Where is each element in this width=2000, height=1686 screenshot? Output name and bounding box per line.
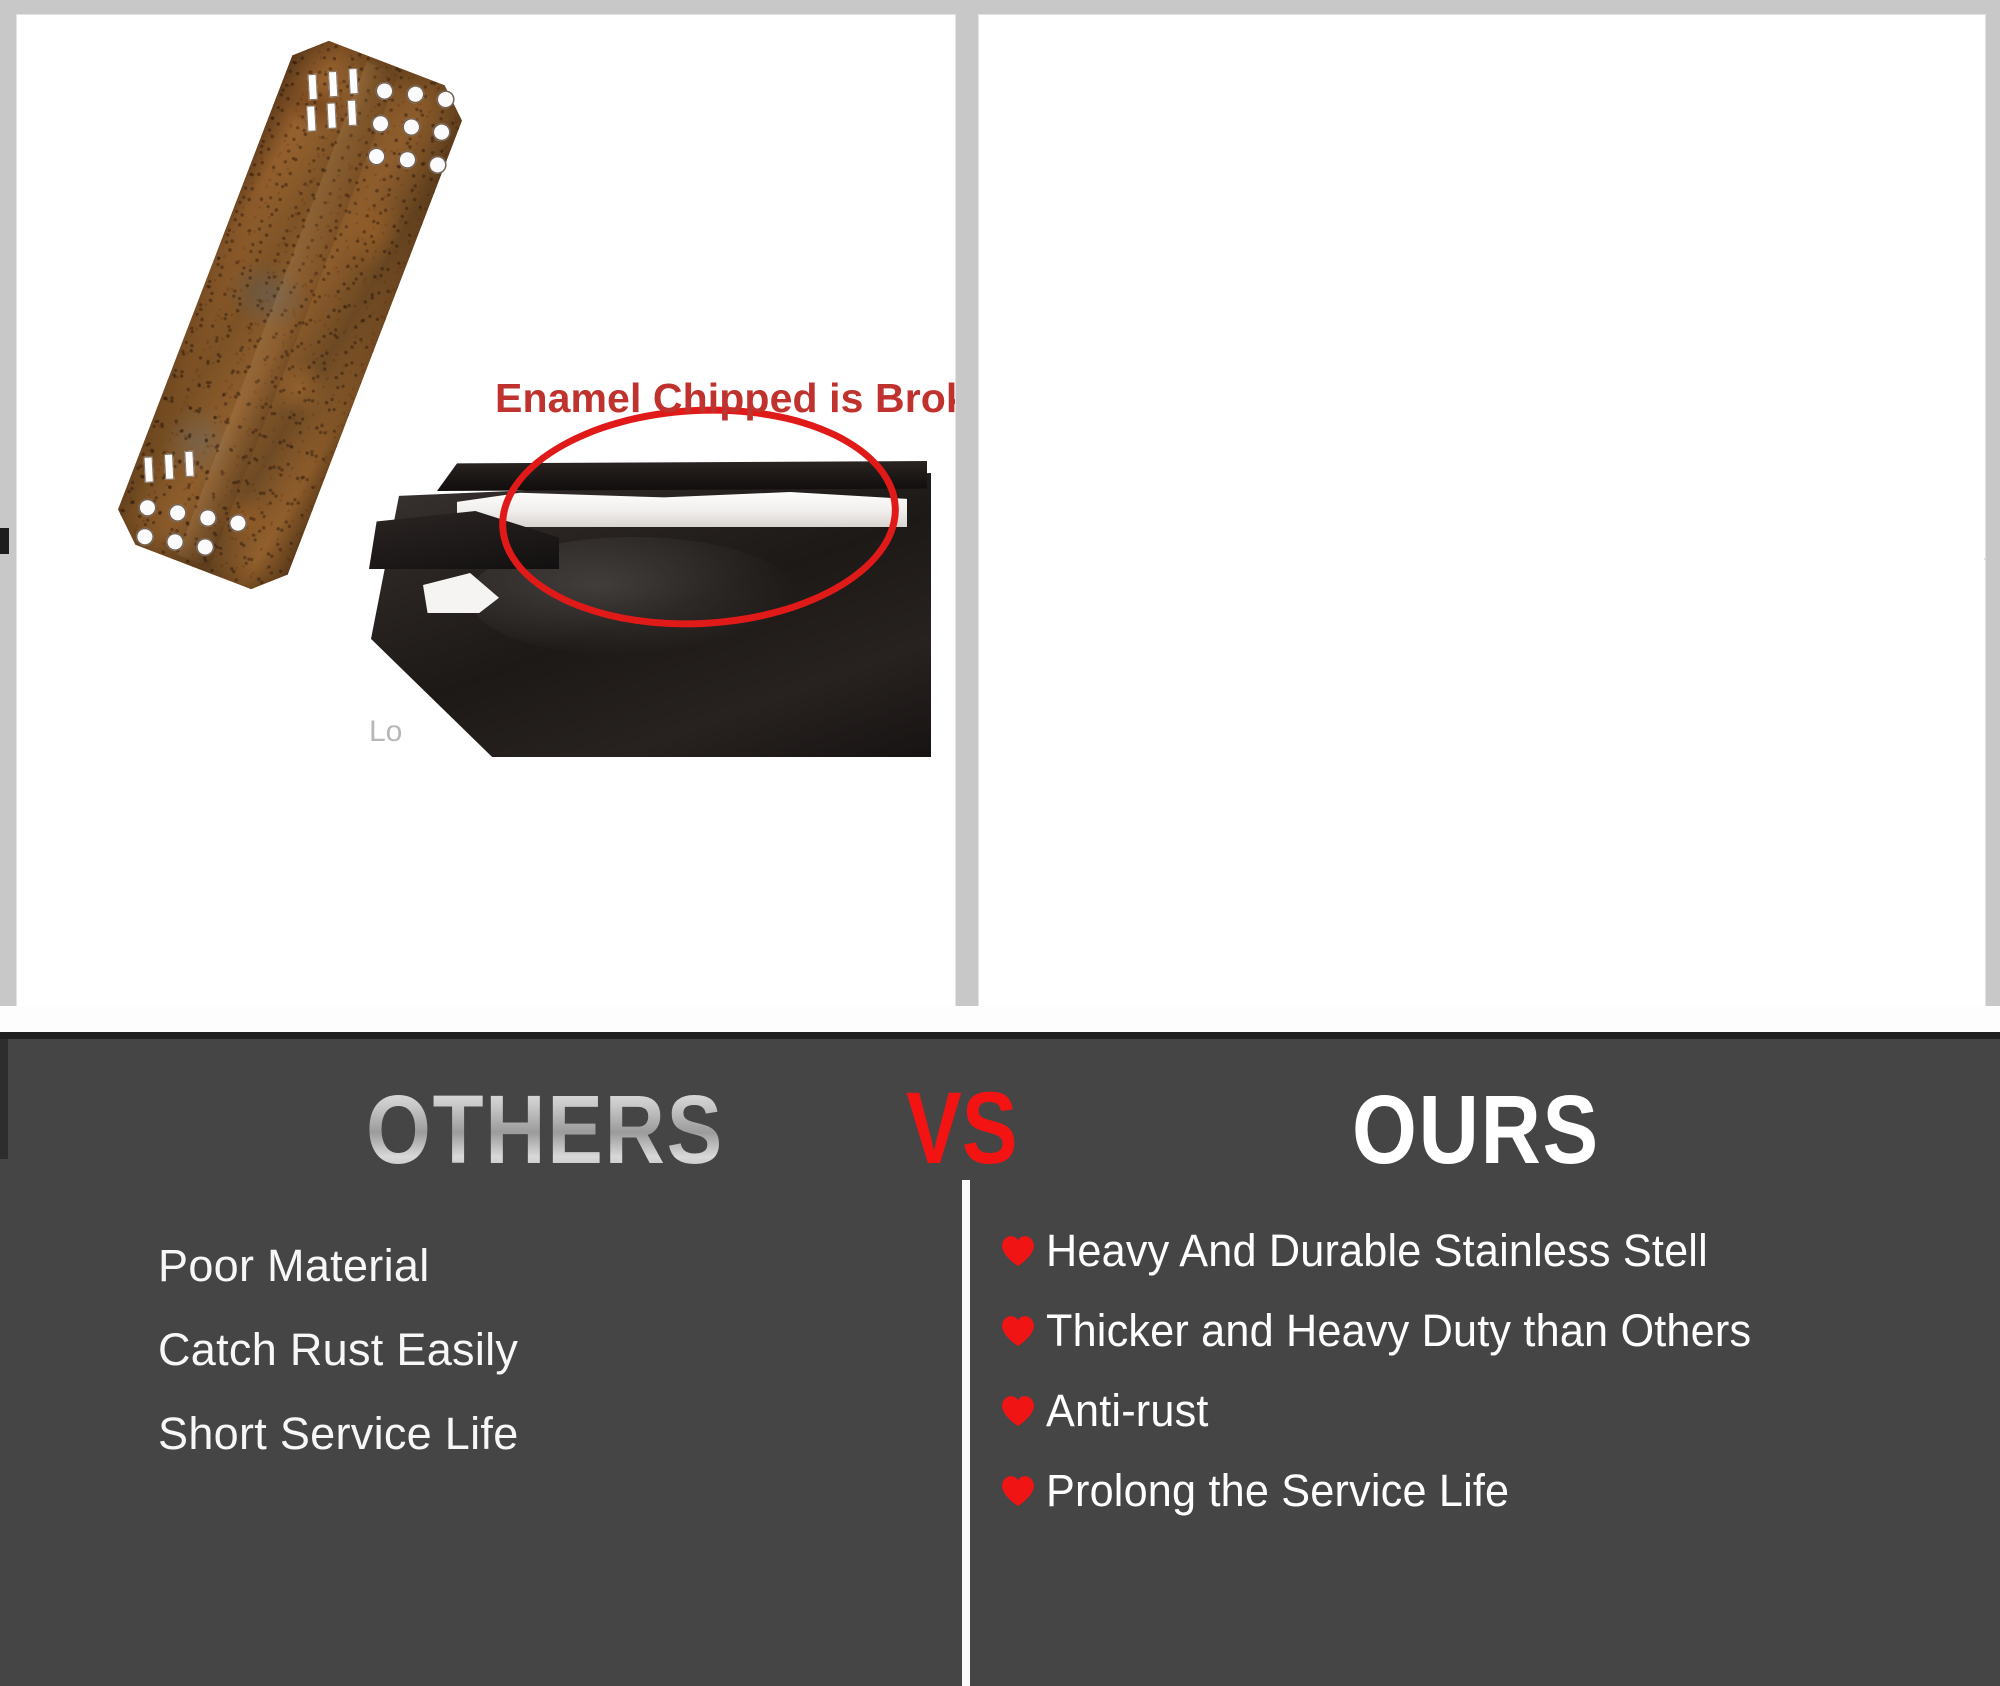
others-list-item: Poor Material: [158, 1240, 918, 1292]
ours-list-item: Thicker and Heavy Duty than Others: [1000, 1305, 1980, 1357]
enamel-chip-closeup-image: [349, 387, 937, 757]
rusty-slot: [144, 456, 154, 482]
rusty-slot: [184, 451, 194, 477]
stainless-plate-panel: [978, 14, 1986, 1008]
watermark-text: Lo: [369, 715, 402, 749]
others-list-item: Short Service Life: [158, 1408, 918, 1460]
rusty-plate-panel: Enamel Chipped is Broken Lo: [16, 14, 956, 1008]
vs-heading: VS: [906, 1070, 1018, 1187]
ours-feature-list: Heavy And Durable Stainless Stell Thicke…: [1000, 1225, 1980, 1545]
stainless-heat-plate-image: [1860, 14, 1986, 754]
ours-list-item-label: Prolong the Service Life: [1046, 1465, 1509, 1517]
enamel-chipped-annotation: Enamel Chipped is Broken: [495, 375, 956, 422]
ours-list-item-label: Thicker and Heavy Duty than Others: [1046, 1305, 1751, 1357]
stainless-grain-overlay: [1972, 60, 1986, 684]
others-feature-list: Poor Material Catch Rust Easily Short Se…: [158, 1240, 918, 1492]
ours-list-item: Prolong the Service Life: [1000, 1465, 1980, 1517]
comparison-left-edge: [0, 1039, 8, 1159]
rusty-slot: [348, 68, 358, 94]
rusty-slot: [164, 454, 174, 480]
heart-icon: [1000, 1315, 1036, 1347]
rusty-slot: [328, 71, 338, 97]
stainless-plate-body: [1972, 60, 1986, 684]
rusty-slot: [308, 74, 318, 100]
ours-heading: OURS: [1352, 1074, 1600, 1186]
photo-area: Enamel Chipped is Broken Lo: [0, 0, 2000, 1032]
comparison-divider: [962, 1180, 970, 1686]
stainless-plate-ridge: [1984, 71, 1986, 565]
product-comparison-graphic: Enamel Chipped is Broken Lo: [0, 0, 2000, 1686]
rusty-slot: [327, 102, 337, 128]
left-edge-mark: [0, 528, 9, 554]
rusty-slot: [347, 100, 357, 126]
heart-icon: [1000, 1475, 1036, 1507]
heart-icon: [1000, 1395, 1036, 1427]
ours-list-item: Anti-rust: [1000, 1385, 1980, 1437]
heart-icon: [1000, 1235, 1036, 1267]
ours-list-item-label: Anti-rust: [1046, 1385, 1209, 1437]
rusty-slot: [306, 105, 316, 131]
panel-frame-bottom: [0, 1006, 2000, 1032]
others-list-item: Catch Rust Easily: [158, 1324, 918, 1376]
others-heading: OTHERS: [366, 1074, 724, 1186]
comparison-top-border: [0, 1032, 2000, 1039]
ours-list-item-label: Heavy And Durable Stainless Stell: [1046, 1225, 1708, 1277]
ours-list-item: Heavy And Durable Stainless Stell: [1000, 1225, 1980, 1277]
